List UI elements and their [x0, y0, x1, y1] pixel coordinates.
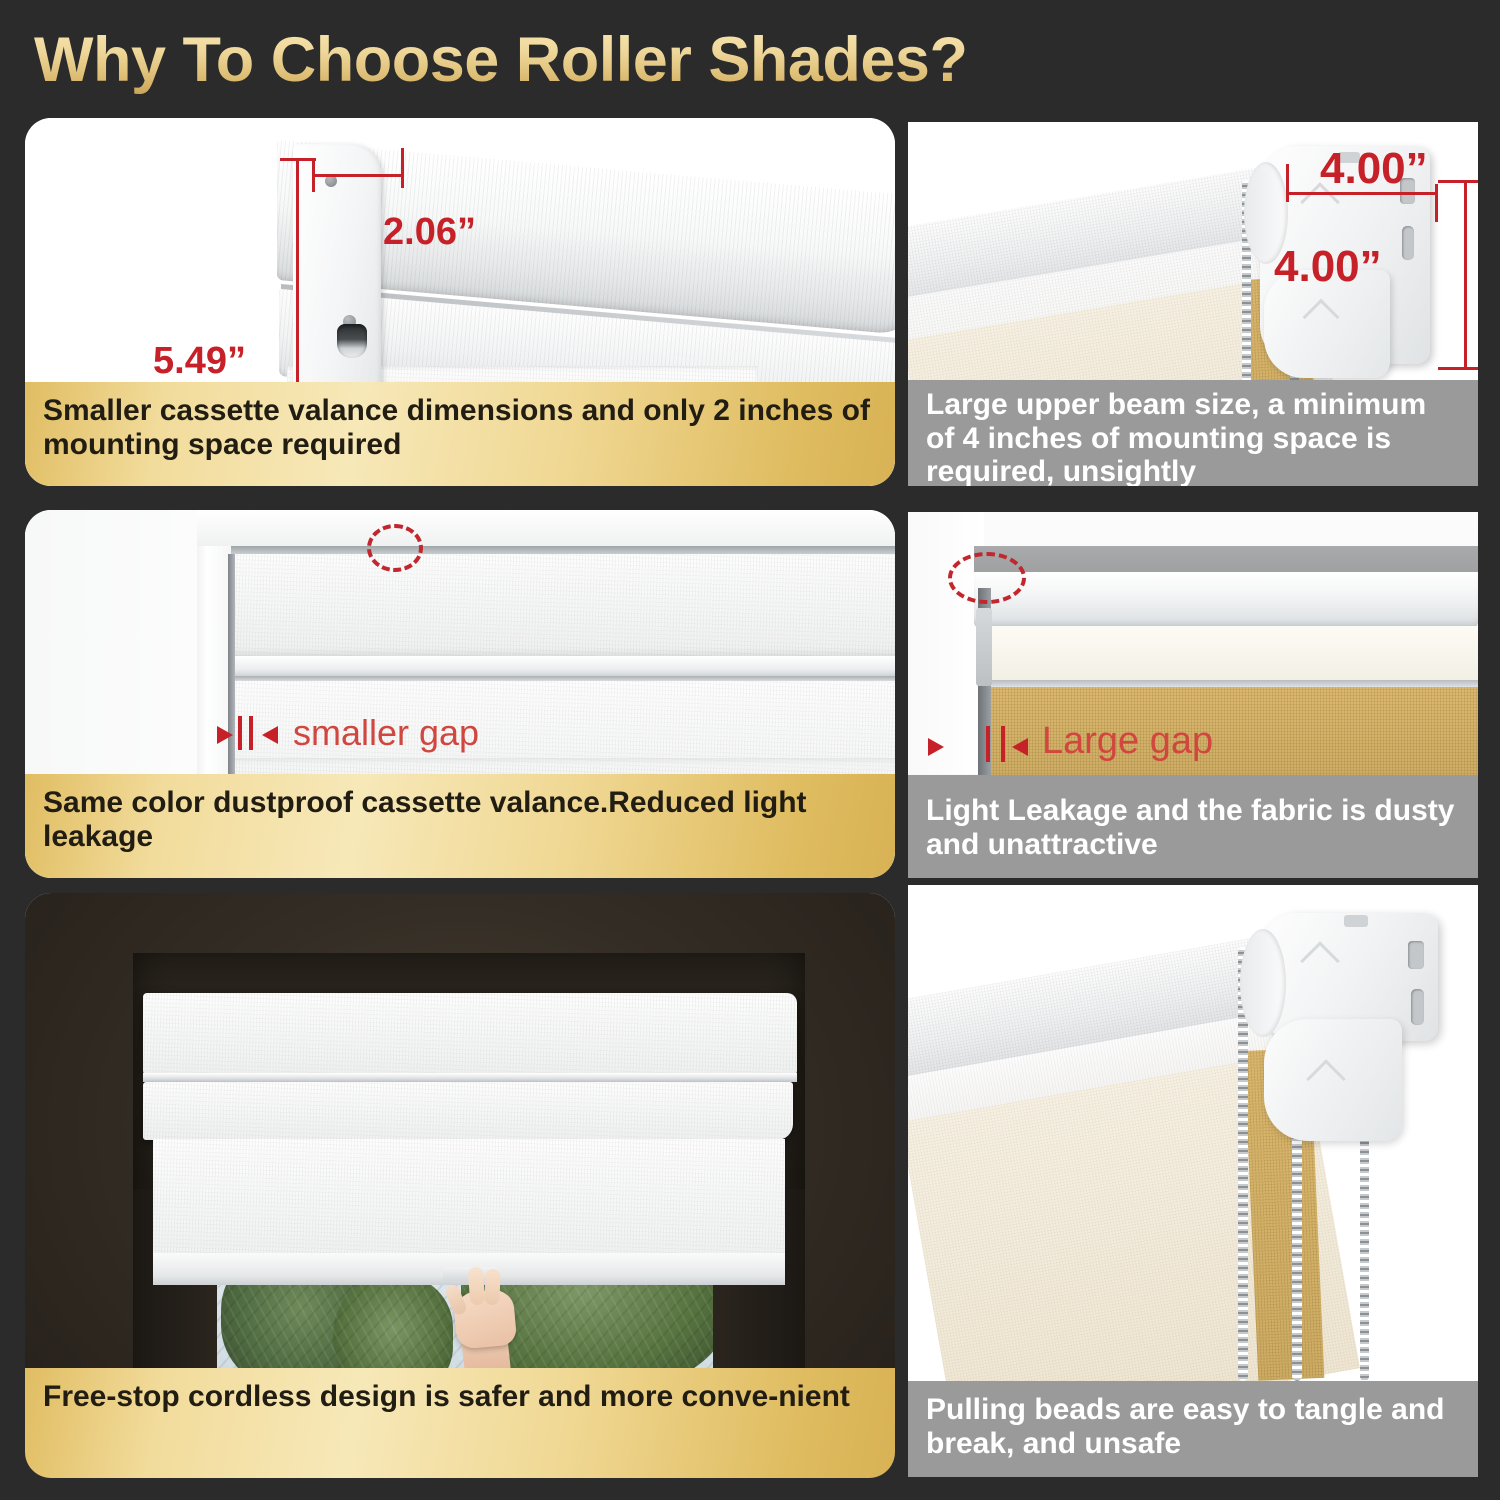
panel-top-left-caption: Smaller cassette valance dimensions and … [25, 382, 895, 486]
shade-fabric-band [233, 758, 895, 764]
panel-bottom-left-caption: Free-stop cordless design is safer and m… [25, 1368, 895, 1478]
bracket-slot-lower [1402, 226, 1414, 260]
hand-finger-1 [468, 1267, 486, 1306]
bottom-bracket-slot-lower [1411, 989, 1424, 1025]
height-dimension-label: 5.49” [153, 340, 246, 383]
valance-bottom-lip [231, 656, 895, 678]
bracket-height-tick-top [1438, 180, 1478, 183]
room-valance-edge [143, 1073, 797, 1082]
infographic-root: Why To Choose Roller Shades? [0, 0, 1500, 1500]
panel-mid-left-caption: Same color dustproof cassette valance.Re… [25, 774, 895, 878]
panel-mid-left: smaller gap Same color dustproof cassett… [25, 510, 895, 878]
bracket-width-tick-right [1435, 184, 1438, 222]
room-shade-fabric [153, 1139, 785, 1267]
bracket-width-label: 4.00” [1320, 144, 1428, 194]
window-frame-head [193, 510, 895, 546]
hand-finger-2 [484, 1269, 500, 1306]
width-dimension-label: 2.06” [383, 211, 476, 254]
cream-fascia [986, 626, 1478, 682]
bracket-height-dimension-line [1464, 180, 1467, 370]
bottom-bead-chain-tail [1360, 1137, 1369, 1381]
room-valance-lower-lip [143, 1082, 793, 1140]
bottom-bracket-top-notch [1344, 915, 1368, 927]
panel-mid-right-caption: Light Leakage and the fabric is dusty an… [908, 782, 1478, 878]
wall-left [908, 512, 984, 774]
bracket-height-tick-bottom [1438, 367, 1478, 370]
panel-top-left: 2.06” 5.49” Smaller cassette valance dim… [25, 118, 895, 486]
roller-tube [974, 572, 1478, 628]
room-valance-cassette [143, 993, 797, 1075]
large-gap-arrow-right [1012, 738, 1028, 756]
panel-top-right: 4.00” 4.00” Large upper beam size, a min… [908, 122, 1478, 486]
panel-top-right-caption: Large upper beam size, a minimum of 4 in… [908, 380, 1478, 486]
panel-bottom-right-caption: Pulling beads are easy to tangle and bre… [908, 1381, 1478, 1477]
large-gap-arrow-left [928, 738, 944, 756]
panel-bottom-right: Pulling beads are easy to tangle and bre… [908, 885, 1478, 1477]
large-gap-tick-b [1001, 726, 1005, 762]
large-gap-label: Large gap [1042, 720, 1213, 763]
page-title: Why To Choose Roller Shades? [34, 24, 967, 96]
panel-mid-right: Large gap Light Leakage and the fabric i… [908, 512, 1478, 878]
smaller-gap-tick-b [249, 716, 253, 750]
smaller-gap-arrow-left [217, 726, 233, 744]
bottom-bracket-slot-upper [1408, 941, 1424, 969]
valance-gap-highlight-circle [367, 524, 423, 572]
side-bracket-sliver [976, 608, 992, 686]
large-gap-highlight-circle [948, 552, 1026, 604]
bottom-roller-end-disc [1240, 929, 1286, 1037]
bracket-height-label: 4.00” [1274, 242, 1382, 292]
width-dimension-tick-left [312, 158, 315, 192]
width-dimension-tick-right [401, 148, 404, 188]
cassette-valance-face [231, 554, 895, 656]
smaller-gap-label: smaller gap [293, 712, 479, 754]
smaller-gap-arrow-right [262, 726, 278, 744]
smaller-gap-tick-a [238, 716, 242, 750]
end-cap-roller-socket [337, 324, 367, 358]
large-gap-tick-a [986, 726, 990, 762]
height-dimension-tick-top [280, 158, 316, 161]
cassette-head-rail [231, 546, 895, 554]
bracket-width-tick-left [1286, 164, 1289, 202]
width-dimension-line [312, 174, 404, 177]
fascia-bottom-edge [986, 680, 1478, 687]
panel-bottom-left: Free-stop cordless design is safer and m… [25, 893, 895, 1478]
